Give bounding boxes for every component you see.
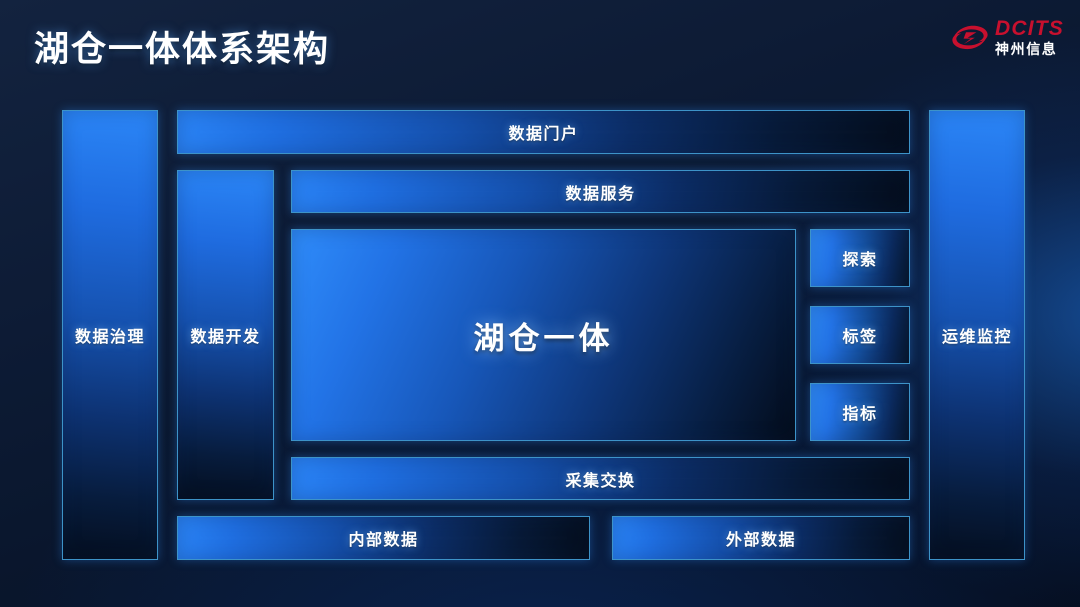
block-label: 指标 — [842, 400, 877, 424]
block-label: 外部数据 — [726, 526, 796, 550]
logo-wordmark: DCITS — [995, 18, 1064, 39]
brand-logo: DCITS 神州信息 — [950, 18, 1064, 56]
block-label: 探索 — [842, 246, 877, 270]
logo-subtext: 神州信息 — [995, 42, 1064, 56]
block-data-collection[interactable]: 采集交换 — [291, 457, 910, 500]
block-label: 数据门户 — [508, 120, 578, 144]
block-label: 采集交换 — [565, 467, 635, 491]
block-module-explore[interactable]: 探索 — [810, 229, 910, 287]
block-module-tags[interactable]: 标签 — [810, 306, 910, 364]
slide-canvas: 湖仓一体体系架构 DCITS 神州信息 数据治理 数据门户 数据开发 数据服务 … — [0, 0, 1080, 607]
block-label: 内部数据 — [348, 526, 418, 550]
block-label: 标签 — [842, 323, 877, 347]
swirl-logo-icon — [950, 20, 990, 54]
block-label: 湖仓一体 — [474, 313, 614, 358]
page-title: 湖仓一体体系架构 — [34, 21, 330, 72]
block-label: 运维监控 — [942, 323, 1012, 347]
block-lakehouse-core[interactable]: 湖仓一体 — [291, 229, 796, 441]
block-data-services[interactable]: 数据服务 — [291, 170, 910, 213]
block-external-data[interactable]: 外部数据 — [612, 516, 910, 560]
block-label: 数据服务 — [565, 180, 635, 204]
block-ops-monitoring[interactable]: 运维监控 — [929, 110, 1025, 560]
block-data-governance[interactable]: 数据治理 — [62, 110, 158, 560]
block-module-metrics[interactable]: 指标 — [810, 383, 910, 441]
block-data-development[interactable]: 数据开发 — [177, 170, 274, 500]
block-label: 数据治理 — [75, 323, 145, 347]
block-data-portal[interactable]: 数据门户 — [177, 110, 910, 154]
block-internal-data[interactable]: 内部数据 — [177, 516, 590, 560]
block-label: 数据开发 — [190, 323, 260, 347]
